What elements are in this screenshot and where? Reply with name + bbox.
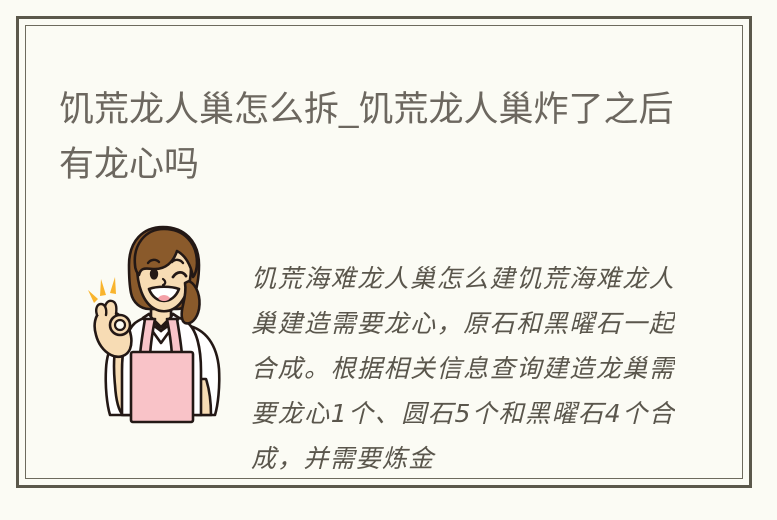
eye-left-open (150, 268, 158, 279)
apron-front (131, 352, 193, 422)
article-paragraph: 饥荒海难龙人巢怎么建饥荒海难龙人巢建造需要龙心，原石和黑曜石一起合成。根据相关信… (251, 256, 675, 481)
article-card: 饥荒龙人巢怎么拆_饥荒龙人巢炸了之后有龙心吗 (16, 16, 752, 488)
article-body: 饥荒海难龙人巢怎么建饥荒海难龙人巢建造需要龙心，原石和黑曜石一起合成。根据相关信… (43, 197, 725, 471)
sparkle-icon (88, 277, 116, 303)
ok-ring-hole (115, 320, 125, 330)
page-title: 饥荒龙人巢怎么拆_饥荒龙人巢炸了之后有龙心吗 (59, 82, 699, 192)
finger-ring (96, 304, 106, 315)
ponytail (182, 281, 200, 323)
winking-woman-ok-gesture-illustration (73, 219, 248, 434)
